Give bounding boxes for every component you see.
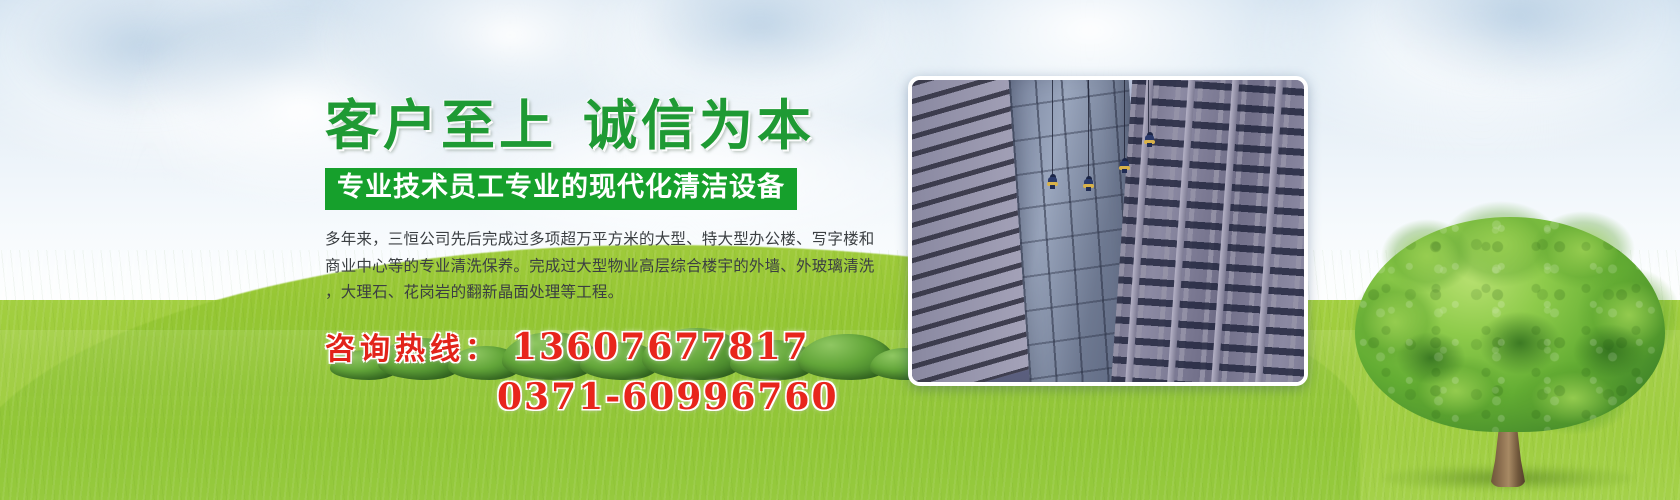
hotline-landline-number[interactable]: 0371-60996760 <box>497 376 839 418</box>
high-rise-facade-window-cleaning-photo[interactable] <box>908 76 1308 386</box>
worker-legs <box>1147 143 1152 147</box>
hotline-secondary-row: 0371-60996760 <box>325 376 905 418</box>
large-green-tree <box>1345 205 1675 495</box>
photo-inner <box>912 80 1304 382</box>
description-line: ，大理石、花岗岩的翻新晶面处理等工程。 <box>325 279 885 306</box>
description-line: 商业中心等的专业清洗保养。完成过大型物业高层综合楼宇的外墙、外玻璃清洗 <box>325 253 885 280</box>
worker-legs <box>1050 185 1055 189</box>
canopy-shadow-cluster <box>1561 315 1657 387</box>
worker-legs <box>1086 187 1091 191</box>
headline-right-phrase: 诚信为本 <box>583 93 815 157</box>
hotline-mobile-number[interactable]: 13607677817 <box>512 326 810 368</box>
hotline-primary-row: 咨询热线：13607677817 <box>325 324 905 368</box>
rappel-rope <box>1124 80 1125 160</box>
banner-text-block: 客户至上诚信为本 专业技术员工专业的现代化清洁设备 多年来，三恒公司先后完成过多… <box>325 96 905 418</box>
promo-banner: 客户至上诚信为本 专业技术员工专业的现代化清洁设备 多年来，三恒公司先后完成过多… <box>0 0 1680 500</box>
headline-left-phrase: 客户至上 <box>325 93 557 157</box>
description-line: 多年来，三恒公司先后完成过多项超万平方米的大型、特大型办公楼、写字楼和 <box>325 226 885 253</box>
hotline-label: 咨询热线： <box>325 332 500 367</box>
page-title: 客户至上诚信为本 <box>325 96 905 154</box>
rappel-rope <box>1088 80 1089 180</box>
rappel-rope <box>1052 80 1053 180</box>
subtitle-banner: 专业技术员工专业的现代化清洁设备 <box>325 168 797 210</box>
window-cleaner-worker <box>1119 158 1130 173</box>
canopy-leaf-cluster <box>1381 219 1473 293</box>
worker-legs <box>1122 169 1127 173</box>
company-description: 多年来，三恒公司先后完成过多项超万平方米的大型、特大型办公楼、写字楼和 商业中心… <box>325 226 885 306</box>
window-cleaner-worker <box>1083 176 1094 191</box>
window-cleaner-worker <box>1144 132 1155 147</box>
rappel-rope <box>1148 80 1149 135</box>
subtitle-text: 专业技术员工专业的现代化清洁设备 <box>337 173 785 203</box>
window-cleaner-worker <box>1047 174 1058 189</box>
canopy-leaf-cluster <box>1531 211 1635 289</box>
canopy-shadow-cluster <box>1465 301 1575 385</box>
canopy-shadow-cluster <box>1385 323 1477 393</box>
